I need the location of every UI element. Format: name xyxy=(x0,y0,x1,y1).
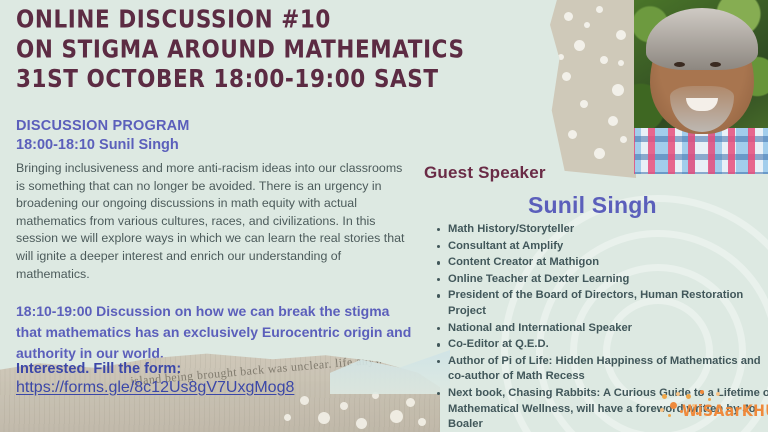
logo-dot xyxy=(676,392,680,396)
right-eye xyxy=(710,62,721,67)
paper-dot xyxy=(318,412,330,424)
logo-dot xyxy=(708,398,711,401)
paper-dot xyxy=(618,60,624,66)
credential-item: Co-Editor at Q.E.D. xyxy=(448,337,768,353)
paper-dot xyxy=(558,54,564,60)
program-heading: DISCUSSION PROGRAM xyxy=(16,118,426,134)
plaid-shirt xyxy=(634,128,768,174)
left-content-column: Online Discussion #10 on Stigma around M… xyxy=(16,6,426,364)
paper-dot xyxy=(596,6,603,13)
logo-dot xyxy=(700,390,704,394)
left-eye xyxy=(674,62,685,67)
logo-dot xyxy=(668,414,671,417)
paper-dot xyxy=(580,100,588,108)
title-line-2: on Stigma around Mathematics xyxy=(16,36,426,66)
dotted-paper-shape xyxy=(550,0,636,178)
paper-dot xyxy=(418,418,426,426)
credential-item: Author of Pi of Life: Hidden Happiness o… xyxy=(448,354,768,385)
logo-dot xyxy=(670,402,677,409)
poster-title: Online Discussion #10 on Stigma around M… xyxy=(16,6,426,95)
paper-dot xyxy=(406,398,415,407)
poster-canvas: Online Discussion #10 on Stigma around M… xyxy=(0,0,768,432)
paper-dot xyxy=(340,402,348,410)
logo-dot xyxy=(662,394,667,399)
paper-dot xyxy=(300,396,309,405)
cta-lead-text: Interested. Fill the form: xyxy=(16,361,416,377)
paper-dot xyxy=(608,116,618,126)
paper-dot xyxy=(584,22,590,28)
credential-item: Math History/Storyteller xyxy=(448,222,768,238)
logo-dot xyxy=(660,408,664,412)
paper-dot xyxy=(594,148,605,159)
logo-dot xyxy=(686,394,691,399)
paper-dot xyxy=(612,84,624,96)
paper-dot xyxy=(600,56,608,64)
program-slot-1-label: 18:00-18:10 Sunil Singh xyxy=(16,137,426,153)
paper-dot xyxy=(568,130,577,139)
title-line-1: Online Discussion #10 xyxy=(16,6,426,36)
title-line-3: 31st October 18:00-19:00 SAST xyxy=(16,65,426,95)
speaker-name: Sunil Singh xyxy=(528,192,657,219)
credential-item: National and International Speaker xyxy=(448,321,768,337)
paper-dot xyxy=(390,410,403,423)
paper-dot xyxy=(564,12,573,21)
logo-dot xyxy=(696,412,699,415)
form-call-to-action: Interested. Fill the form: https://forms… xyxy=(16,361,416,397)
speaker-photo xyxy=(634,0,768,174)
logo-dot xyxy=(680,410,683,413)
guest-speaker-label: Guest Speaker xyxy=(424,163,546,183)
paper-dot xyxy=(356,418,367,429)
credential-item: Content Creator at Mathigon xyxy=(448,255,768,271)
paper-dot xyxy=(620,136,627,143)
program-slot-1-description: Bringing inclusiveness and more anti-rac… xyxy=(16,160,412,283)
credential-item: Consultant at Amplify xyxy=(448,239,768,255)
logo-dot xyxy=(692,404,695,407)
credential-item: President of the Board of Directors, Hum… xyxy=(448,288,768,319)
paper-dot xyxy=(284,414,291,421)
credential-item: Online Teacher at Dexter Learning xyxy=(448,272,768,288)
form-link[interactable]: https://forms.gle/8c12Us8gV7UxgMog8 xyxy=(16,379,294,397)
paper-dot xyxy=(574,40,585,51)
logo-dot xyxy=(716,392,720,396)
paper-dot xyxy=(616,30,626,40)
wisaarkhu-logo: WiSAarKHU xyxy=(660,390,764,428)
paper-dot xyxy=(562,72,571,81)
